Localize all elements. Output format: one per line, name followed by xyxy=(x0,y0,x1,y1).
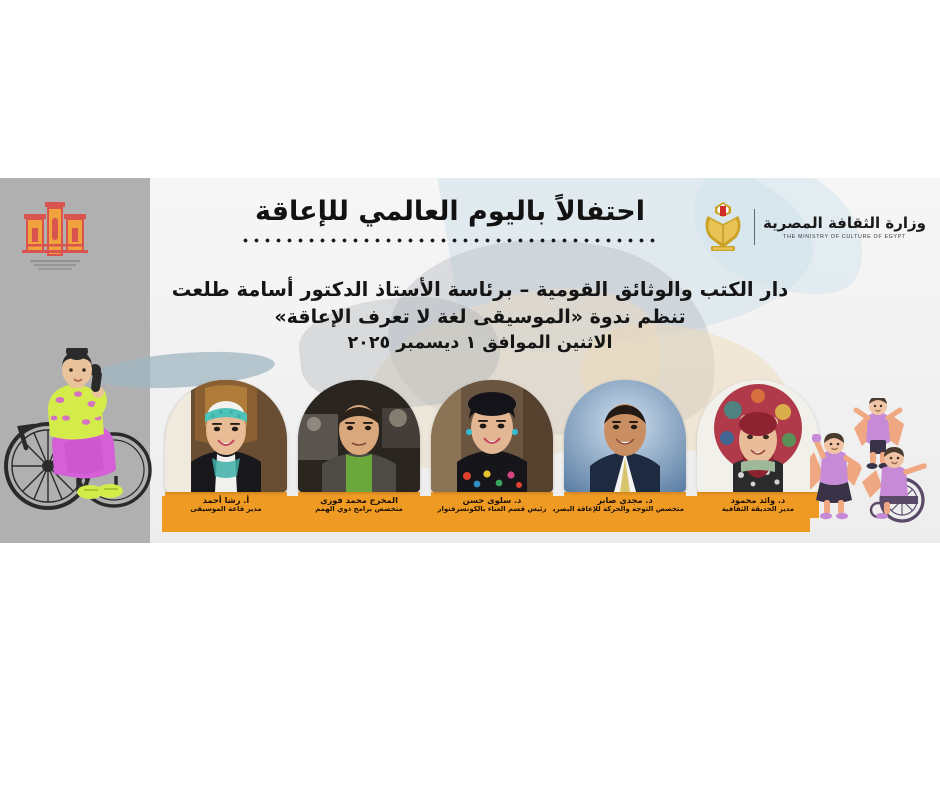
speaker-card: د. سلوى حسن رئيس قسم الغناء بالكونسرفتوا… xyxy=(431,380,553,518)
description-line-1: دار الكتب والوثائق القومية – برئاسة الأس… xyxy=(140,276,820,304)
speaker-card: أ. رشا أحمد مدير قاعة الموسيقى xyxy=(165,380,287,518)
speaker-caption: د. مجدي صابر متخصص التوجه والحركة للإعاق… xyxy=(564,492,686,518)
speaker-caption: أ. رشا أحمد مدير قاعة الموسيقى xyxy=(165,492,287,518)
speaker-photo xyxy=(564,380,686,492)
speaker-portrait-row: د. وائد محمود مدير الحديقة الثقافية xyxy=(165,380,819,518)
ministry-logo-text: وزارة الثقافة المصرية THE MINISTRY OF CU… xyxy=(763,214,926,240)
event-date: الاثنين الموافق ١ ديسمبر ٢٠٢٥ xyxy=(140,331,820,356)
speaker-card: المخرج محمد فوزي متخصص برامج ذوي الهمم xyxy=(298,380,420,518)
speaker-card: د. مجدي صابر متخصص التوجه والحركة للإعاق… xyxy=(564,380,686,518)
speaker-role: متخصص التوجه والحركة للإعاقة البصرية xyxy=(566,505,684,514)
national-library-logo xyxy=(18,196,92,274)
speaker-photo xyxy=(165,380,287,492)
speaker-caption: د. وائد محمود مدير الحديقة الثقافية xyxy=(697,492,819,518)
ministry-name-english: THE MINISTRY OF CULTURE OF EGYPT xyxy=(763,234,926,240)
speaker-name: د. سلوى حسن xyxy=(433,495,551,505)
speaker-name: د. وائد محمود xyxy=(699,495,817,505)
headline-block: احتفالاً باليوم العالمي للإعاقة xyxy=(150,196,750,244)
speaker-role: رئيس قسم الغناء بالكونسرفتوار xyxy=(433,505,551,514)
speaker-role: مدير قاعة الموسيقى xyxy=(167,505,285,514)
speaker-photo xyxy=(298,380,420,492)
speaker-card: د. وائد محمود مدير الحديقة الثقافية xyxy=(697,380,819,518)
logo-divider xyxy=(754,209,755,245)
superhero-children-illustration-icon xyxy=(810,398,938,524)
speaker-role: متخصص برامج ذوي الهمم xyxy=(300,505,418,514)
ministry-name-arabic: وزارة الثقافة المصرية xyxy=(763,214,926,232)
speaker-caption: المخرج محمد فوزي متخصص برامج ذوي الهمم xyxy=(298,492,420,518)
speaker-photo xyxy=(431,380,553,492)
dotted-divider xyxy=(240,237,660,244)
speaker-role: مدير الحديقة الثقافية xyxy=(699,505,817,514)
speaker-name: د. مجدي صابر xyxy=(566,495,684,505)
event-description: دار الكتب والوثائق القومية – برئاسة الأس… xyxy=(140,276,820,356)
speaker-caption: د. سلوى حسن رئيس قسم الغناء بالكونسرفتوا… xyxy=(431,492,553,518)
description-line-2: تنظم ندوة «الموسيقى لغة لا تعرف الإعاقة» xyxy=(140,304,820,331)
speaker-name: أ. رشا أحمد xyxy=(167,495,285,505)
speaker-name: المخرج محمد فوزي xyxy=(300,495,418,505)
wheelchair-singer-illustration-icon xyxy=(4,348,154,518)
page-title: احتفالاً باليوم العالمي للإعاقة xyxy=(150,196,750,227)
speaker-photo xyxy=(697,380,819,492)
